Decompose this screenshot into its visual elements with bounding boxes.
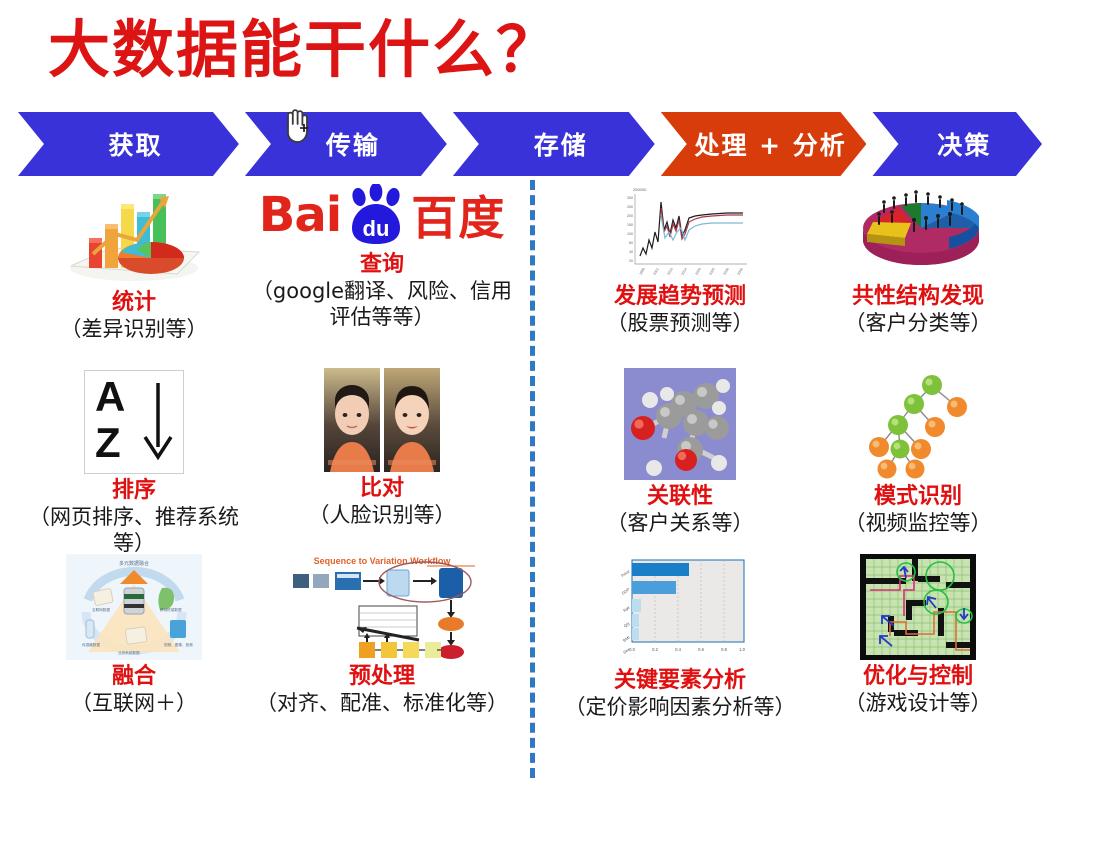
- down-arrow-icon: [141, 381, 175, 465]
- process-step-bar: 获取 传输 存储 处理 + 分析 决策: [18, 112, 1048, 176]
- baidu-paw-icon: du: [343, 184, 409, 246]
- page-title: 大数据能干什么？: [48, 16, 560, 84]
- molecule-model-icon: [624, 368, 736, 480]
- maze-grid-path-icon: [860, 554, 976, 660]
- card-title: 发展趋势预测: [560, 284, 800, 310]
- process-step-transmit[interactable]: 传输: [245, 112, 447, 176]
- svg-text:250: 250: [627, 205, 633, 209]
- process-step-acquire[interactable]: 获取: [18, 112, 239, 176]
- process-step-label: 处理 + 分析: [680, 126, 846, 162]
- capability-card-optimization-control[interactable]: 优化与控制 （游戏设计等）: [800, 554, 1036, 717]
- card-subtitle: （定价影响因素分析等）: [560, 695, 800, 721]
- capability-card-query[interactable]: Bai du 百度 查询 （google翻译、风险、信用评估等等）: [250, 182, 514, 331]
- baidu-logo-latin: Bai: [259, 187, 341, 243]
- svg-text:GDP: GDP: [621, 587, 631, 596]
- sort-letter-bottom: Z: [95, 419, 121, 467]
- card-title: 统计: [18, 290, 250, 316]
- svg-text:0.6: 0.6: [698, 647, 704, 652]
- card-subtitle: （视频监控等）: [800, 511, 1036, 537]
- svg-text:250000: 250000: [633, 187, 647, 192]
- svg-text:du: du: [363, 216, 390, 241]
- card-title: 融合: [18, 664, 250, 690]
- process-step-label: 获取: [94, 126, 162, 162]
- svg-text:Price: Price: [620, 568, 631, 578]
- card-subtitle: （游戏设计等）: [800, 691, 1036, 717]
- card-title: 关键要素分析: [560, 668, 800, 694]
- sort-a-z-icon: A Z: [84, 370, 184, 474]
- face-pair-photo-icon: [324, 368, 440, 472]
- svg-text:BMI: BMI: [622, 635, 631, 643]
- capability-card-preprocessing[interactable]: Sequence to Variation Workflow: [250, 554, 514, 717]
- capability-card-fusion[interactable]: 多元数据融合 互联网数据 移动终端数据 传感器数据 视频、图像、音频 业务系统数…: [18, 554, 250, 717]
- svg-text:100: 100: [627, 232, 633, 236]
- card-subtitle: （客户分类等）: [800, 311, 1036, 337]
- capability-card-comparison[interactable]: 比对 （人脸识别等）: [250, 368, 514, 529]
- svg-text:0.4: 0.4: [675, 647, 681, 652]
- card-subtitle: （对齐、配准、标准化等）: [250, 691, 514, 717]
- card-subtitle: （差异识别等）: [18, 317, 250, 343]
- card-subtitle: （google翻译、风险、信用评估等等）: [250, 279, 514, 330]
- svg-text:20: 20: [629, 259, 633, 263]
- capability-card-pattern-recognition[interactable]: 模式识别 （视频监控等）: [800, 368, 1036, 537]
- svg-text:60: 60: [629, 241, 633, 245]
- svg-text:1.0: 1.0: [739, 647, 745, 652]
- svg-text:传感器数据: 传感器数据: [82, 642, 100, 647]
- sort-letter-top: A: [95, 373, 125, 421]
- capability-card-trend-forecast[interactable]: 250000 300250200 15010060 4020 1998 2001…: [560, 182, 800, 337]
- line-trend-chart-icon: 250000 300250200 15010060 4020 1998 2001…: [607, 182, 753, 280]
- capability-card-statistics[interactable]: 统计 （差异识别等）: [18, 182, 250, 343]
- horizontal-bar-chart-icon: Price GDP Age Qty BMI Sex 0.00.20.4 0.60…: [612, 554, 748, 664]
- card-title: 查询: [250, 252, 514, 278]
- svg-text:移动终端数据: 移动终端数据: [160, 607, 182, 612]
- pie-chart-people-3d-icon: [843, 182, 993, 280]
- data-fusion-diagram-icon: 多元数据融合 互联网数据 移动终端数据 传感器数据 视频、图像、音频 业务系统数…: [66, 554, 202, 660]
- baidu-logo-cn: 百度: [411, 182, 505, 248]
- svg-text:业务系统数据: 业务系统数据: [118, 650, 140, 655]
- capability-card-sorting[interactable]: A Z 排序 （网页排序、推荐系统等）: [18, 368, 250, 557]
- svg-text:300: 300: [627, 196, 633, 200]
- card-title: 关联性: [560, 484, 800, 510]
- svg-text:Age: Age: [622, 604, 631, 613]
- card-title: 共性结构发现: [800, 284, 1036, 310]
- capability-card-structure-discovery[interactable]: 共性结构发现 （客户分类等）: [800, 182, 1036, 337]
- process-step-label: 存储: [520, 126, 588, 162]
- card-subtitle: （网页排序、推荐系统等）: [18, 505, 250, 556]
- card-title: 排序: [18, 478, 250, 504]
- svg-text:多元数据融合: 多元数据融合: [119, 560, 149, 567]
- card-subtitle: （股票预测等）: [560, 311, 800, 337]
- process-step-label: 传输: [312, 126, 380, 162]
- svg-text:互联网数据: 互联网数据: [92, 607, 110, 612]
- card-title: 模式识别: [800, 484, 1036, 510]
- process-step-decide[interactable]: 决策: [872, 112, 1042, 176]
- card-title: 预处理: [250, 664, 514, 690]
- card-title: 优化与控制: [800, 664, 1036, 690]
- capability-grid: 统计 （差异识别等） Bai du 百度 查询 （google翻译、风险、信用评…: [0, 182, 1100, 782]
- baidu-logo-icon: Bai du 百度: [250, 182, 514, 248]
- capability-card-key-factors[interactable]: Price GDP Age Qty BMI Sex 0.00.20.4 0.60…: [560, 554, 800, 721]
- process-step-label: 决策: [923, 126, 991, 162]
- card-title: 比对: [250, 476, 514, 502]
- card-subtitle: （互联网＋）: [18, 691, 250, 717]
- svg-text:40: 40: [629, 250, 633, 254]
- process-step-store[interactable]: 存储: [453, 112, 655, 176]
- svg-text:0.8: 0.8: [721, 647, 727, 652]
- svg-text:0.2: 0.2: [652, 647, 658, 652]
- card-subtitle: （人脸识别等）: [250, 503, 514, 529]
- svg-text:200: 200: [627, 214, 633, 218]
- bar-pie-chart-3d-icon: [59, 182, 209, 286]
- svg-text:Qty: Qty: [623, 621, 631, 629]
- decision-tree-icon: [858, 368, 978, 480]
- workflow-diagram-icon: Sequence to Variation Workflow: [287, 554, 477, 660]
- svg-text:150: 150: [627, 223, 633, 227]
- process-step-process-analyze[interactable]: 处理 + 分析: [661, 112, 867, 176]
- svg-text:视频、图像、音频: 视频、图像、音频: [164, 642, 193, 647]
- card-subtitle: （客户关系等）: [560, 511, 800, 537]
- svg-text:0.0: 0.0: [629, 647, 635, 652]
- workflow-caption: Sequence to Variation Workflow: [314, 556, 452, 566]
- capability-card-association[interactable]: 关联性 （客户关系等）: [560, 368, 800, 537]
